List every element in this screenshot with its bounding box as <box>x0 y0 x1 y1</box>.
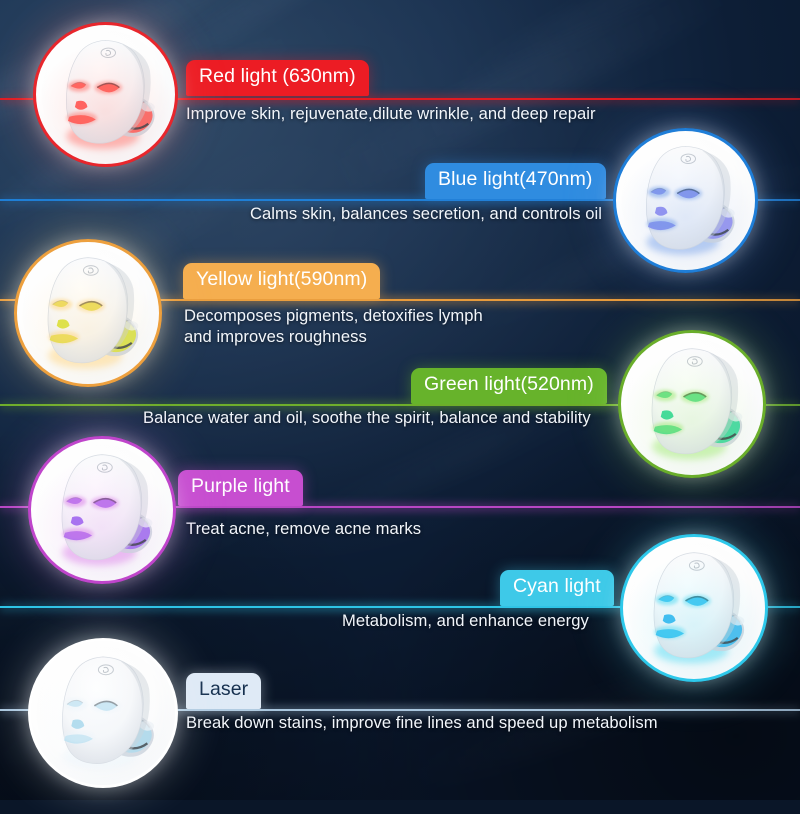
led-face-mask-illustration <box>17 242 159 384</box>
mask-photo-purple <box>28 436 176 584</box>
mask-ring-blue <box>613 128 758 273</box>
mask-ring-green <box>618 330 766 478</box>
description-laser: Break down stains, improve fine lines an… <box>186 712 658 733</box>
led-face-mask-illustration <box>31 641 175 785</box>
badge-red: Red light (630nm) <box>186 60 369 96</box>
description-yellow: Decomposes pigments, detoxifies lymph an… <box>184 305 483 347</box>
mask-photo-cyan <box>620 534 768 682</box>
mask-ring-yellow <box>14 239 162 387</box>
mask-ring-cyan <box>620 534 768 682</box>
description-cyan: Metabolism, and enhance energy <box>342 610 589 631</box>
description-blue: Calms skin, balances secretion, and cont… <box>250 203 602 224</box>
mask-ring-purple <box>28 436 176 584</box>
mask-ring-laser <box>28 638 178 788</box>
mask-photo-red <box>33 22 178 167</box>
mask-photo-green <box>618 330 766 478</box>
badge-blue: Blue light(470nm) <box>425 163 606 199</box>
led-face-mask-illustration <box>36 25 175 164</box>
mask-photo-blue <box>613 128 758 273</box>
description-green: Balance water and oil, soothe the spirit… <box>143 407 591 428</box>
badge-green: Green light(520nm) <box>411 368 607 404</box>
led-face-mask-illustration <box>616 131 755 270</box>
led-face-mask-illustration <box>31 439 173 581</box>
mask-photo-yellow <box>14 239 162 387</box>
light-mode-list: Red light (630nm)Improve skin, rejuvenat… <box>0 0 800 800</box>
mask-photo-laser <box>28 638 178 788</box>
led-face-mask-illustration <box>623 537 765 679</box>
led-face-mask-illustration <box>621 333 763 475</box>
mask-ring-red <box>33 22 178 167</box>
description-purple: Treat acne, remove acne marks <box>186 518 421 539</box>
description-red: Improve skin, rejuvenate,dilute wrinkle,… <box>186 103 596 124</box>
badge-yellow: Yellow light(590nm) <box>183 263 380 299</box>
